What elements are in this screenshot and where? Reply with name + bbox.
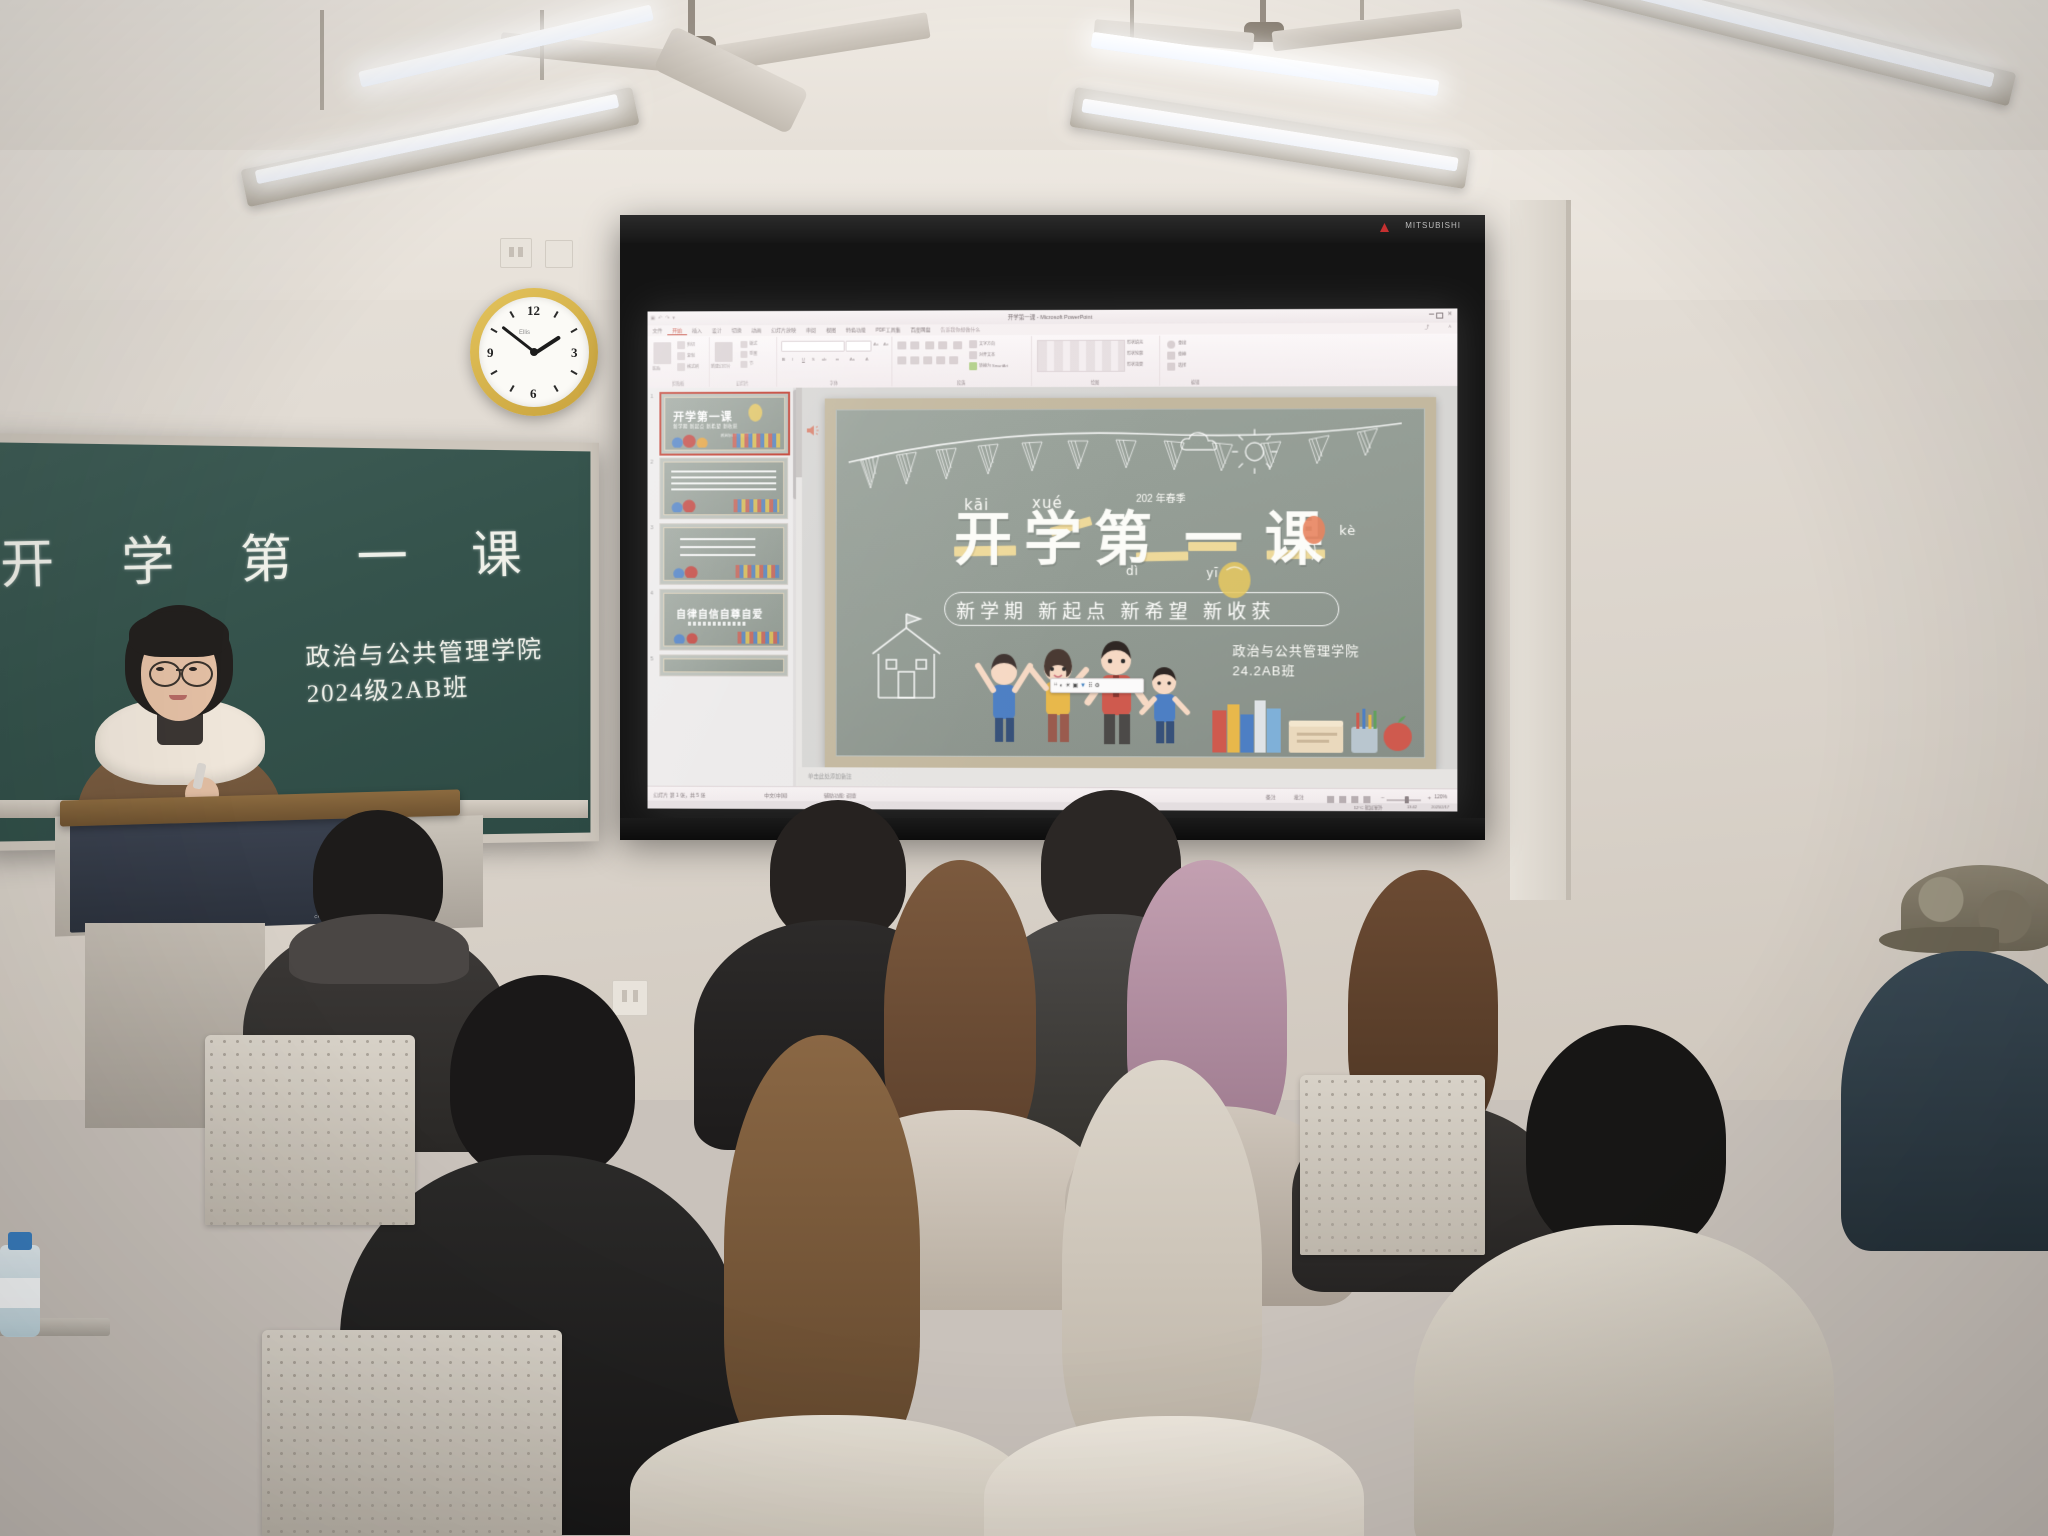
thumbnail-decor-books [733, 434, 781, 448]
seat-perforation [1300, 1075, 1485, 1255]
taskbar-time: 13:42 [1407, 804, 1417, 809]
copy-label: 复制 [687, 353, 695, 359]
sun-icon [1228, 428, 1280, 474]
thumbnail-list-lines [680, 538, 755, 560]
slide-thumbnail-pane[interactable]: 1 开学第一课 新学期 新起点 新希望 新收获 政治与公共管理学院 2 [648, 388, 799, 786]
align-left-icon[interactable] [897, 356, 906, 364]
clock-numeral-9: 9 [487, 345, 494, 361]
customize-icon[interactable]: ▾ [672, 315, 674, 321]
shape-effects-label[interactable]: 形状效果 [1127, 362, 1143, 368]
thumbnail-decor-children [670, 497, 719, 512]
ribbon-group-paragraph-label: 段落 [891, 380, 1031, 386]
thumbnail-canvas: 自律自信自尊自爱 [663, 593, 784, 647]
text-direction-icon[interactable] [969, 340, 977, 348]
student-with-cap [1855, 865, 2048, 1255]
ppt-document-title: 开学第一课 - Microsoft PowerPoint [1008, 313, 1092, 321]
justify-icon[interactable] [936, 356, 945, 364]
glasses-right-lens [181, 661, 213, 687]
clock-numeral-3: 3 [571, 345, 578, 361]
classroom-scene: 12 3 6 9 Ellis 开 学 第 一 课 政治与公共管理学院2024级2… [0, 0, 2048, 1536]
ribbon-group-drawing-label: 绘图 [1031, 380, 1159, 386]
font-family-combo[interactable] [781, 341, 845, 352]
highlight-stroke-yi [1188, 542, 1236, 551]
collapse-ribbon-icon[interactable]: ˄ [1449, 325, 1452, 330]
zoom-slider[interactable] [1387, 799, 1421, 801]
select-label[interactable]: 选择 [1178, 363, 1186, 369]
section-label: 节 [749, 361, 753, 367]
thumbnail-slide-5[interactable] [659, 654, 788, 676]
share-button[interactable]: ⤴ [1424, 325, 1429, 331]
align-text-label[interactable]: 对齐文本 [979, 352, 995, 358]
slide-editing-area[interactable]: kāi xué dì yī kè 开 学 第 一 课 [798, 386, 1457, 788]
seat-perforation [262, 1330, 562, 1536]
thumbnail-canvas: 开学第一课 新学期 新起点 新希望 新收获 政治与公共管理学院 [664, 397, 785, 451]
clock-face: 12 3 6 9 Ellis [479, 297, 589, 407]
wall-socket-blank [545, 240, 573, 268]
format-painter-label: 格式刷 [687, 364, 699, 370]
cloud-icon [1180, 432, 1226, 456]
toolbar-border-icon[interactable]: ▣ [1072, 682, 1078, 689]
format-painter-icon[interactable] [677, 363, 685, 371]
ribbon-group-editing-label: 编辑 [1159, 380, 1231, 386]
copy-icon[interactable] [677, 352, 685, 360]
tab-insert[interactable]: 插入 [687, 327, 707, 334]
cut-icon[interactable] [677, 341, 685, 349]
change-case-icon[interactable]: Aa [850, 357, 855, 362]
char-spacing-icon[interactable]: ⇹ [836, 357, 839, 362]
clock-numeral-12: 12 [527, 303, 540, 319]
cut-label: 剪切 [687, 342, 695, 348]
line-spacing-icon[interactable] [953, 341, 962, 349]
school-house-icon [863, 610, 951, 700]
replace-icon[interactable] [1167, 352, 1175, 360]
thumbnail-number: 1 [650, 394, 653, 400]
thumbnail-body-lines [671, 470, 776, 494]
thumbnail-canvas [663, 461, 784, 515]
slide-year-tag: 202 年春季 [1136, 490, 1186, 505]
thumbnail-canvas [663, 658, 784, 672]
thumbnail-decor-children [670, 631, 715, 644]
cap-brim [1879, 927, 1999, 953]
thumbnail-number: 3 [650, 525, 653, 531]
redo-icon[interactable]: ↷ [665, 315, 669, 321]
current-slide[interactable]: kāi xué dì yī kè 开 学 第 一 课 [825, 397, 1436, 769]
toolbar-arrange-icon[interactable]: ⠿ [1088, 682, 1092, 689]
clock-tick [570, 370, 577, 375]
ribbon-group-font-label: 字体 [776, 380, 891, 386]
status-language[interactable]: 中文(中国) [764, 792, 787, 799]
title-char-di: 第 [1094, 510, 1152, 568]
tab-transitions[interactable]: 切换 [727, 327, 747, 334]
student-shoulders [1841, 951, 2048, 1251]
slide-area-scroll-thumb[interactable] [796, 388, 802, 478]
student-hood [289, 914, 469, 984]
bold-icon[interactable]: B [782, 357, 785, 362]
ribbon-group-editing[interactable]: 查找 替换 选择 编辑 [1159, 335, 1231, 385]
door-edge [1566, 200, 1571, 900]
find-icon[interactable] [1167, 341, 1175, 349]
seat-perforation [205, 1035, 415, 1225]
thumbnail-row[interactable]: 1 开学第一课 新学期 新起点 新希望 新收获 政治与公共管理学院 [659, 392, 794, 454]
decrease-font-icon[interactable]: A˅ [883, 342, 888, 347]
student-shoulders [630, 1415, 1030, 1536]
thumbnail-subtitle: 新学期 新起点 新希望 新收获 [673, 424, 738, 430]
ribbon-group-slides-label: 幻灯片 [709, 381, 776, 387]
view-slideshow-icon[interactable] [1363, 796, 1370, 803]
taskbar-date: 2025/2/17 [1431, 804, 1449, 809]
font-color-icon[interactable]: A [866, 357, 869, 362]
thumbnail-row[interactable]: 4 自律自信自尊自爱 [659, 589, 794, 651]
glasses-left-lens [149, 661, 181, 687]
new-slide-icon[interactable] [715, 342, 733, 362]
tell-me-box[interactable]: 告诉我你想做什么 [935, 326, 985, 333]
reset-icon[interactable] [741, 351, 748, 358]
notes-pane[interactable]: 单击此处添加备注 [798, 767, 1457, 788]
glasses-bridge [176, 669, 183, 671]
font-size-combo[interactable] [846, 341, 872, 352]
ribbon-group-clipboard-label: 剪贴板 [648, 381, 709, 387]
thumbnail-number: 5 [650, 656, 653, 662]
ribbon-group-drawing[interactable]: 形状填充 形状轮廓 形状效果 绘图 [1031, 336, 1160, 386]
door-panel [1510, 200, 1568, 900]
zoom-in-button[interactable]: + [1428, 795, 1432, 801]
student-shoulders [1414, 1225, 1834, 1536]
student-hair [1526, 1025, 1726, 1255]
thumbnail-row[interactable]: 5 [659, 654, 794, 676]
thumbnail-slide-1[interactable]: 开学第一课 新学期 新起点 新希望 新收获 政治与公共管理学院 [659, 392, 790, 456]
shadow-icon[interactable]: S [812, 357, 815, 362]
tab-home[interactable]: 开始 [667, 327, 687, 335]
projector-logo-icon [1380, 223, 1389, 232]
clock-tick [490, 328, 497, 333]
view-reading-icon[interactable] [1351, 796, 1358, 803]
align-text-icon[interactable] [969, 351, 977, 359]
floating-format-toolbar[interactable]: ⌗ ◐ ☀ ▣ ▼ ⠿ ⚙ [1050, 678, 1144, 693]
clock-tick [553, 311, 558, 318]
tab-file[interactable]: 文件 [648, 327, 668, 334]
wall-clock: 12 3 6 9 Ellis [470, 288, 598, 416]
thumbnail-slide-3[interactable] [659, 523, 788, 585]
undo-icon[interactable]: ↶ [658, 315, 662, 321]
align-center-icon[interactable] [910, 356, 919, 364]
layout-icon[interactable] [741, 341, 748, 348]
tab-review[interactable]: 审阅 [801, 327, 821, 334]
balloon-icon [1301, 516, 1327, 560]
clock-tick [570, 328, 577, 333]
clock-center-pin [530, 348, 538, 356]
status-accessibility[interactable]: 辅助功能: 调查 [824, 792, 857, 799]
shapes-gallery[interactable] [1037, 340, 1125, 372]
student-back-9 [1000, 1060, 1340, 1536]
instructor-bangs [129, 611, 229, 657]
window-minimize-button[interactable] [1429, 314, 1434, 315]
bullets-icon[interactable] [897, 341, 906, 349]
paste-icon[interactable] [653, 342, 671, 364]
toolbar-fill-icon[interactable]: ▼ [1080, 683, 1086, 689]
thumbnail-number: 4 [650, 591, 653, 597]
ceiling-light-far-right [1470, 0, 2048, 120]
find-label[interactable]: 查找 [1178, 341, 1186, 347]
save-icon[interactable]: ▣ [650, 315, 655, 321]
bottle-cap [8, 1232, 32, 1250]
toolbar-recolor-icon[interactable]: ◐ [1059, 683, 1063, 689]
view-normal-icon[interactable] [1327, 796, 1334, 803]
tab-slideshow[interactable]: 幻灯片放映 [766, 327, 801, 334]
notes-placeholder: 单击此处添加备注 [808, 772, 852, 780]
bunting-icon [845, 421, 1406, 504]
chalkboard-subtitle: 政治与公共管理学院2024级2AB班 [305, 628, 592, 710]
status-slide-indicator: 幻灯片 第 1 张，共 5 张 [653, 792, 705, 799]
thumbnail-title: 开学第一课 [673, 409, 732, 425]
thumbnail-decor-books [734, 499, 780, 512]
student-hair-long [1062, 1060, 1262, 1470]
clock-tick [509, 311, 514, 318]
ceiling-light-right [1070, 0, 1490, 210]
thumbnail-decor-books [736, 565, 780, 578]
books-icon [1210, 680, 1418, 753]
tab-design[interactable]: 设计 [707, 327, 727, 334]
clock-tick [509, 385, 514, 392]
thumbnail-decor-children [670, 564, 717, 578]
tab-features[interactable]: 特色功能 [841, 327, 871, 334]
layout-label: 版式 [749, 341, 757, 347]
status-notes-button[interactable]: 备注 [1266, 794, 1276, 801]
status-comments-button[interactable]: 批注 [1294, 794, 1304, 801]
powerpoint-window[interactable]: ▣ ↶ ↷ ▾ 开学第一课 - Microsoft PowerPoint ✕ 文… [648, 308, 1458, 811]
title-char-xue: 学 [1024, 510, 1082, 568]
paste-label: 粘贴 [652, 366, 660, 372]
clock-brand: Ellis [519, 330, 530, 336]
slide-org-line-2: 24.2AB班 [1232, 660, 1295, 679]
replace-label[interactable]: 替换 [1178, 352, 1186, 358]
clock-tick [553, 385, 558, 392]
ceiling-light-left [240, 10, 640, 210]
wall-socket-upper [500, 238, 532, 268]
bottle-label [0, 1278, 40, 1308]
chalkboard-title: 开 学 第 一 课 [0, 512, 547, 598]
projector-brand: MITSUBISHI [1405, 221, 1461, 230]
slide-org-line-1: 政治与公共管理学院 [1232, 640, 1359, 659]
thumbnail-number: 2 [650, 460, 653, 466]
thumbnail-slide-4[interactable]: 自律自信自尊自爱 [659, 589, 788, 651]
smartart-icon[interactable] [969, 362, 977, 370]
projector-screen-header: MITSUBISHI [620, 215, 1485, 243]
align-right-icon[interactable] [923, 356, 932, 364]
zoom-out-button[interactable]: − [1381, 795, 1385, 801]
tab-animations[interactable]: 动画 [747, 327, 767, 334]
decrease-indent-icon[interactable] [925, 341, 934, 349]
increase-font-icon[interactable]: A˄ [874, 342, 879, 347]
tab-view[interactable]: 视图 [821, 327, 841, 334]
thumbnail-row[interactable]: 3 [659, 523, 794, 585]
slide-chalkboard-graphic: kāi xué dì yī kè 开 学 第 一 课 [836, 408, 1425, 758]
tab-pdf-tools[interactable]: PDF工具集 [871, 327, 906, 334]
select-icon[interactable] [1167, 363, 1175, 371]
pinyin-ke: kè [1339, 524, 1356, 539]
student-back-10 [1440, 1025, 1800, 1536]
pencil-cup-icon [1214, 560, 1254, 604]
clock-numeral-6: 6 [530, 386, 537, 402]
smartart-label[interactable]: 转换为 SmartArt [979, 363, 1008, 369]
text-direction-label[interactable]: 文字方向 [979, 341, 995, 347]
tab-baidu-pan[interactable]: 百度网盘 [906, 326, 936, 333]
ppt-ribbon[interactable]: 粘贴 剪切 复制 格式刷 剪贴板 新建幻灯片 版式 重置 节 幻灯片 [648, 334, 1458, 389]
thumbnail-canvas [663, 527, 784, 581]
thumbnail-decor-books [738, 632, 780, 644]
ribbon-group-clipboard[interactable]: 粘贴 剪切 复制 格式刷 剪贴板 [648, 337, 710, 387]
student-hair [450, 975, 635, 1180]
thumbnail-decor-children [671, 432, 722, 448]
thumbnail-subtitle-line [688, 622, 745, 626]
ribbon-group-slides[interactable]: 新建幻灯片 版式 重置 节 幻灯片 [709, 337, 777, 387]
status-zoom-level[interactable]: 120% [1434, 794, 1447, 800]
slide-area-scrollbar[interactable] [796, 388, 802, 787]
toolbar-contrast-icon[interactable]: ☀ [1065, 682, 1070, 689]
toolbar-crop-icon[interactable]: ⌗ [1054, 682, 1057, 689]
ribbon-group-font[interactable]: A˄ A˅ B I U S ab ⇹ Aa A 字体 [776, 337, 892, 387]
window-close-button[interactable]: ✕ [1447, 312, 1452, 318]
student-hair-long [724, 1035, 920, 1465]
italic-icon[interactable]: I [792, 357, 793, 362]
increase-indent-icon[interactable] [938, 341, 947, 349]
ribbon-group-paragraph[interactable]: 文字方向 对齐文本 转换为 SmartArt 段落 [891, 336, 1032, 386]
thumbnail-slide-2[interactable] [659, 457, 788, 519]
thumbnail-decor-balloon [748, 404, 762, 422]
thumbnail-row[interactable]: 2 [659, 457, 794, 519]
new-slide-label: 新建幻灯片 [711, 364, 731, 370]
numbering-icon[interactable] [910, 341, 919, 349]
toolbar-more-icon[interactable]: ⚙ [1094, 682, 1099, 689]
window-restore-button[interactable] [1436, 313, 1443, 319]
reset-label: 重置 [749, 351, 757, 357]
taskbar-weather[interactable]: 12°C 犹如室外 [1354, 805, 1383, 811]
view-sorter-icon[interactable] [1339, 796, 1346, 803]
instructor-mouth [169, 695, 187, 700]
title-char-kai: 开 [954, 510, 1012, 568]
section-icon[interactable] [741, 361, 748, 368]
shape-fill-label[interactable]: 形状填充 [1127, 340, 1143, 346]
columns-icon[interactable] [949, 356, 958, 364]
student-shoulders [984, 1416, 1364, 1536]
strikethrough-icon[interactable]: ab [822, 357, 826, 362]
thumbnail-title: 自律自信自尊自爱 [676, 606, 763, 621]
clock-tick [490, 370, 497, 375]
underline-icon[interactable]: U [802, 357, 805, 362]
shape-outline-label[interactable]: 形状轮廓 [1127, 351, 1143, 357]
audio-speaker-icon[interactable] [806, 423, 820, 437]
student-back-8 [650, 1035, 1010, 1535]
